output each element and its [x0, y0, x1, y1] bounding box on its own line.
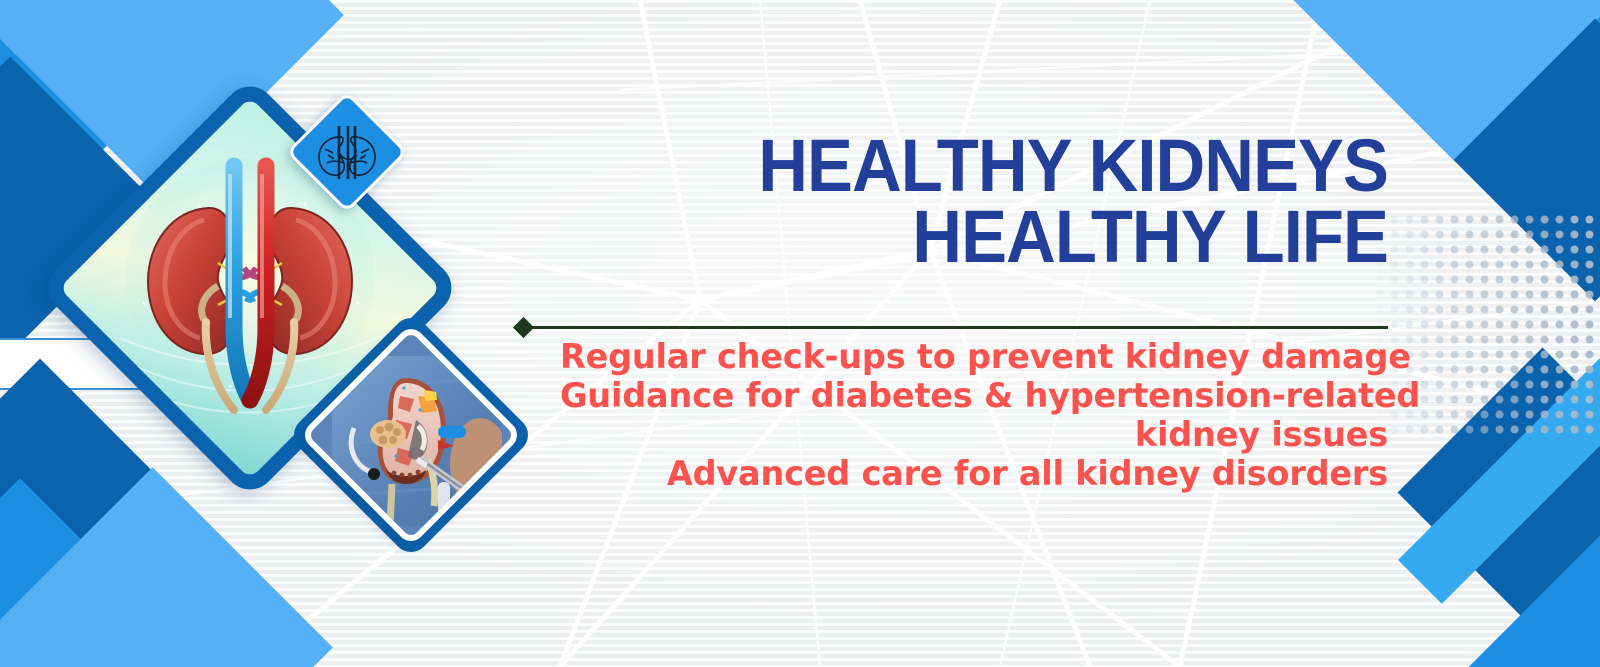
headline-line-1: HEALTHY KIDNEYS [618, 130, 1388, 201]
headline-block: HEALTHY KIDNEYS HEALTHY LIFE [560, 130, 1388, 272]
benefit-line-2: Guidance for diabetes & hypertension-rel… [560, 377, 1388, 416]
kidney-line-art-icon [308, 113, 386, 191]
benefit-line-4: Advanced care for all kidney disorders [560, 455, 1388, 494]
kidney-health-banner: HEALTHY KIDNEYS HEALTHY LIFE Regular che… [0, 0, 1600, 667]
benefits-list: Regular check-ups to prevent kidney dama… [560, 338, 1388, 493]
divider [516, 320, 1388, 336]
divider-line [530, 326, 1388, 329]
benefit-line-3: kidney issues [560, 416, 1388, 455]
headline-line-2: HEALTHY LIFE [618, 201, 1388, 272]
benefit-line-1: Regular check-ups to prevent kidney dama… [560, 338, 1388, 377]
